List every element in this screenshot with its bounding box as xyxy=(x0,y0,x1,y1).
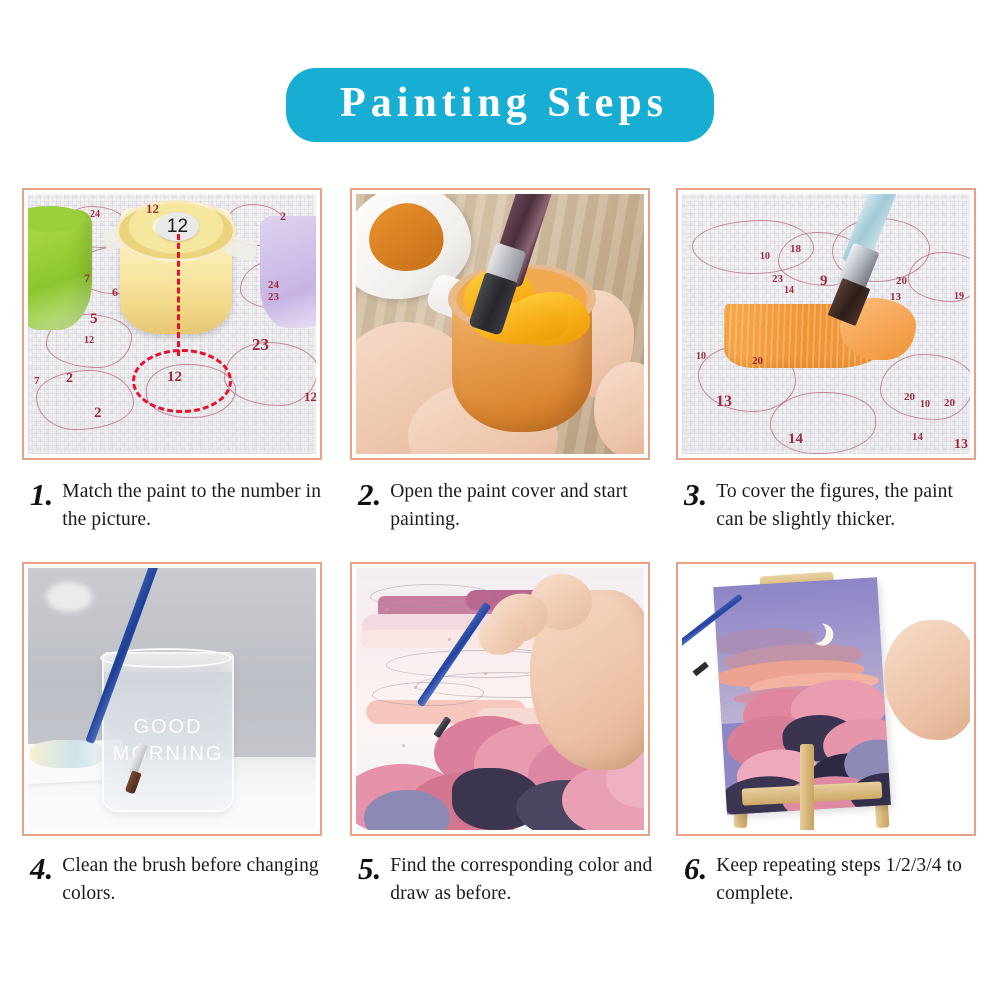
region-outline xyxy=(370,584,492,608)
step-1-caption: 1. Match the paint to the number in the … xyxy=(30,478,330,533)
canvas-number: 6 xyxy=(112,286,118,298)
step-4-photo-frame: GOOD MORNING xyxy=(22,562,322,836)
step-2-caption: 2. Open the paint cover and start painti… xyxy=(358,478,658,533)
purple-paint-pot xyxy=(260,216,316,328)
step-5-number: 5. xyxy=(358,852,381,884)
clean-brush-in-water-glass-photo: GOOD MORNING xyxy=(28,568,316,830)
step-1-number: 1. xyxy=(30,478,53,510)
region-outline xyxy=(770,392,876,454)
annotation-dashed-ellipse xyxy=(132,349,232,413)
water-glass: GOOD MORNING xyxy=(102,652,234,812)
canvas-dot xyxy=(448,638,451,641)
step-5-photo-frame xyxy=(350,562,650,836)
region-outline xyxy=(880,354,970,420)
canvas-number: 20 xyxy=(896,276,907,287)
canvas-number: 2 xyxy=(94,406,102,421)
canvas-number: 2 xyxy=(280,210,286,222)
tray-items xyxy=(30,740,104,768)
blurred-background-object xyxy=(46,582,92,612)
glass-printed-text: GOOD MORNING xyxy=(104,714,232,768)
step-6-caption: 6. Keep repeating steps 1/2/3/4 to compl… xyxy=(684,852,984,907)
lid-residue xyxy=(361,195,451,281)
step-6-text: Keep repeating steps 1/2/3/4 to complete… xyxy=(716,852,984,907)
step-1-text: Match the paint to the number in the pic… xyxy=(62,478,330,533)
glass-text-line-2: MORNING xyxy=(113,743,224,765)
canvas-dot xyxy=(414,686,417,689)
canvas-number: 23 xyxy=(252,336,269,353)
canvas-number: 14 xyxy=(784,286,794,296)
canvas-number: 7 xyxy=(84,272,90,284)
canvas-dot xyxy=(402,744,405,747)
glass-text-line-1: GOOD xyxy=(133,716,202,738)
step-2-image-cell xyxy=(350,188,650,460)
canvas-number: 12 xyxy=(146,202,159,215)
step-1-photo-frame: 12 12 12 24 2 7 6 5 23 12 2 7 2 24 2 xyxy=(22,188,322,460)
canvas-number: 20 xyxy=(904,392,915,403)
step-4-number: 4. xyxy=(30,852,53,884)
step-3-image-cell: 10 18 23 14 9 20 13 19 10 20 13 14 20 10… xyxy=(676,188,976,460)
canvas-number: 20 xyxy=(752,356,763,367)
steps-grid: 12 12 12 24 2 7 6 5 23 12 2 7 2 24 2 xyxy=(0,0,1000,1000)
step-3-number: 3. xyxy=(684,478,707,510)
brush-covering-figures-photo: 10 18 23 14 9 20 13 19 10 20 13 14 20 10… xyxy=(682,194,970,454)
canvas-number: 2 xyxy=(66,372,73,386)
step-4-caption: 4. Clean the brush before changing color… xyxy=(30,852,330,907)
step-6-number: 6. xyxy=(684,852,707,884)
canvas-number: 12 xyxy=(84,336,94,346)
canvas-number: 23 xyxy=(772,274,783,285)
canvas-target-number: 12 xyxy=(167,369,182,386)
green-paint-pot xyxy=(28,210,92,330)
painting-in-progress-photo xyxy=(356,568,644,830)
step-5-text: Find the corresponding color and draw as… xyxy=(390,852,658,907)
step-4-text: Clean the brush before changing colors. xyxy=(62,852,330,907)
paint-pot-matching-number-photo: 12 12 12 24 2 7 6 5 23 12 2 7 2 24 2 xyxy=(28,194,316,454)
canvas-number: 23 xyxy=(268,292,279,303)
canvas-number: 10 xyxy=(696,352,706,362)
painting-steps-page: Painting Steps xyxy=(0,0,1000,1000)
canvas-number: 13 xyxy=(890,292,901,303)
step-4-image-cell: GOOD MORNING xyxy=(22,562,322,836)
canvas-number: 7 xyxy=(34,376,40,387)
canvas-number: 13 xyxy=(716,394,732,410)
canvas-number: 14 xyxy=(912,432,923,443)
step-3-text: To cover the figures, the paint can be s… xyxy=(716,478,984,533)
canvas-number: 19 xyxy=(954,292,964,302)
canvas-dot xyxy=(386,608,389,611)
step-1-image-cell: 12 12 12 24 2 7 6 5 23 12 2 7 2 24 2 xyxy=(22,188,322,460)
region-outline xyxy=(224,342,316,406)
open-paint-pot-photo xyxy=(356,194,644,454)
canvas-number: 24 xyxy=(90,210,100,220)
easel-back-leg xyxy=(800,744,814,830)
canvas-number: 5 xyxy=(90,312,98,327)
canvas-number: 20 xyxy=(944,398,955,409)
annotation-dashed-line xyxy=(177,234,180,356)
canvas-number: 24 xyxy=(268,280,279,291)
canvas-number: 12 xyxy=(304,390,316,403)
canvas-number: 13 xyxy=(954,438,968,452)
canvas-number: 14 xyxy=(788,432,803,447)
step-3-photo-frame: 10 18 23 14 9 20 13 19 10 20 13 14 20 10… xyxy=(676,188,976,460)
finished-painting-on-easel-photo xyxy=(682,568,970,830)
canvas-number: 9 xyxy=(820,274,828,289)
step-5-caption: 5. Find the corresponding color and draw… xyxy=(358,852,658,907)
canvas-number: 10 xyxy=(920,400,930,410)
canvas-number: 18 xyxy=(790,244,801,255)
step-2-text: Open the paint cover and start painting. xyxy=(390,478,658,533)
step-5-image-cell xyxy=(350,562,650,836)
step-3-caption: 3. To cover the figures, the paint can b… xyxy=(684,478,984,533)
step-6-image-cell xyxy=(676,562,976,836)
step-6-photo-frame xyxy=(676,562,976,836)
canvas-number: 10 xyxy=(760,252,770,262)
step-2-number: 2. xyxy=(358,478,381,510)
step-2-photo-frame xyxy=(350,188,650,460)
canvas-dot xyxy=(484,672,487,675)
